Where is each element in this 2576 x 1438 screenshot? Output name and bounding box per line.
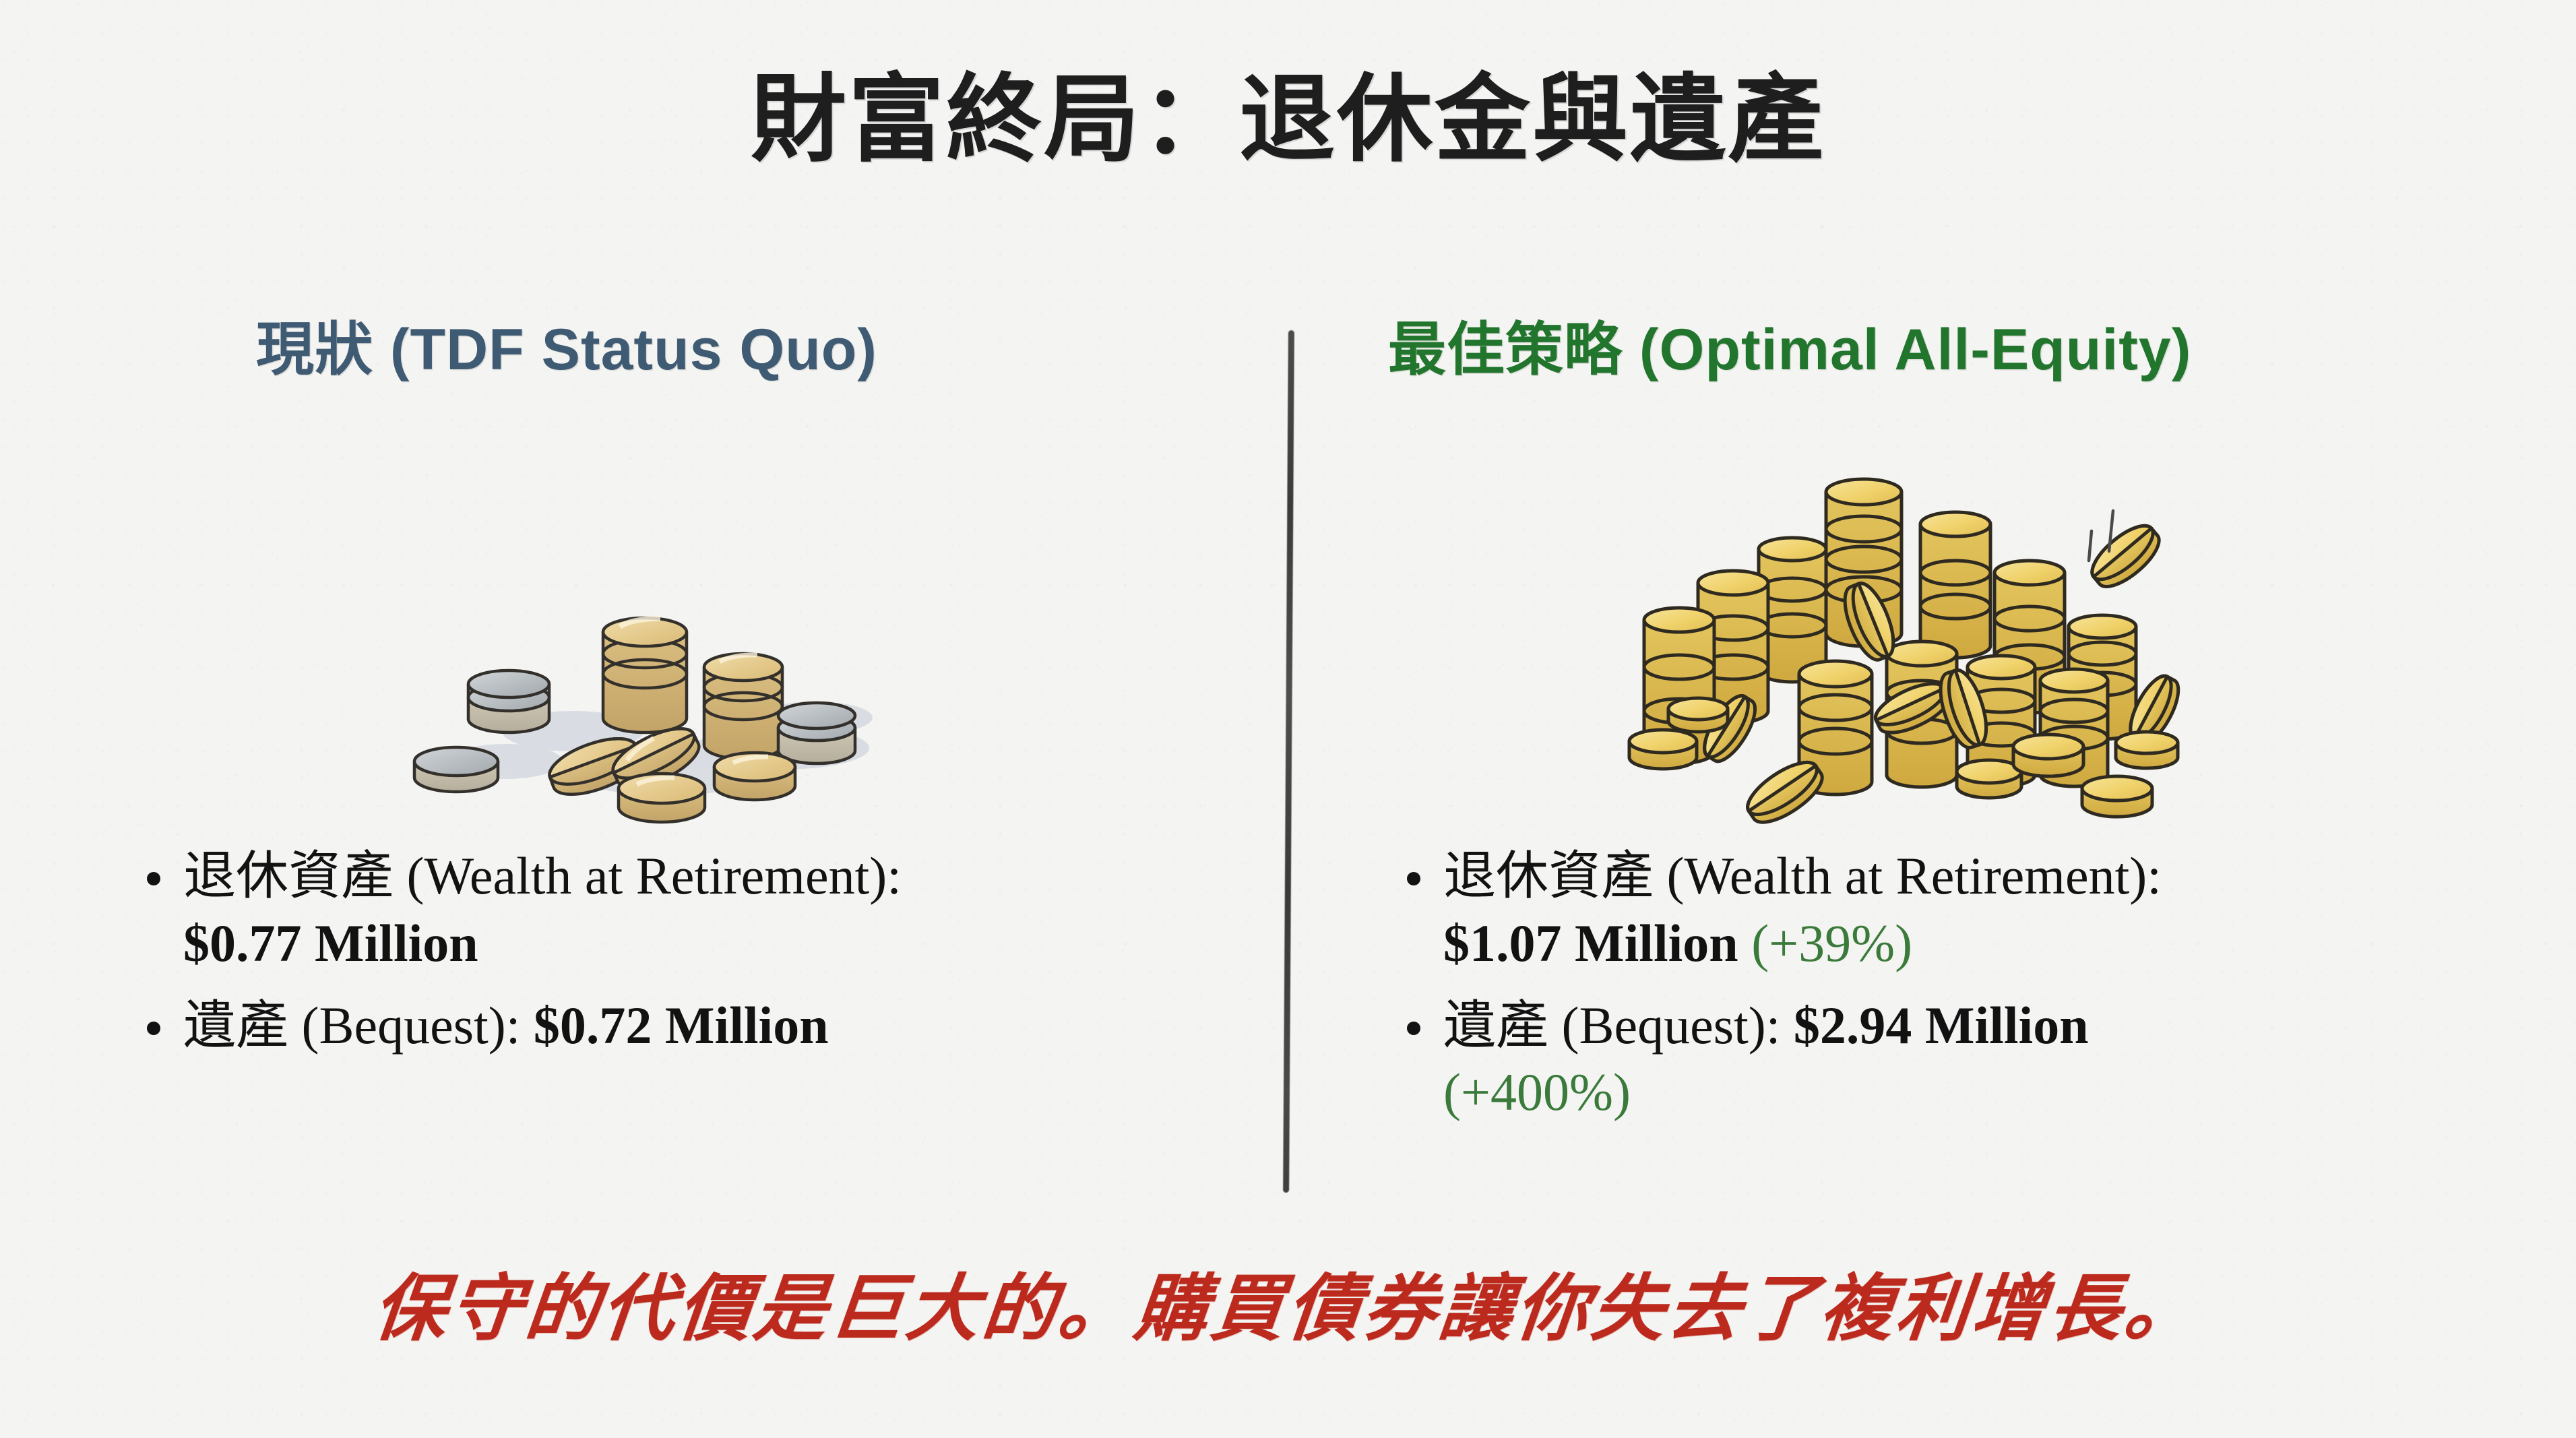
list-item: 遺產 (Bequest): $2.94 Million (+400%) — [1402, 992, 2493, 1127]
metric-value: $1.07 Million — [1443, 914, 1738, 972]
column-optimal: 最佳策略 (Optimal All-Equity) — [1368, 317, 2527, 383]
large-coin-pile-illustration — [1604, 451, 2251, 836]
metric-label: 遺產 (Bequest): — [1443, 996, 1780, 1055]
list-item: 退休資產 (Wealth at Retirement): $1.07 Milli… — [1402, 842, 2493, 977]
list-item: 退休資產 (Wealth at Retirement): $0.77 Milli… — [142, 842, 1193, 977]
column-heading-status-quo: 現狀 (TDF Status Quo) — [94, 317, 1240, 383]
metric-label: 遺產 (Bequest): — [183, 996, 520, 1055]
metrics-list-status-quo: 退休資產 (Wealth at Retirement): $0.77 Milli… — [142, 842, 1193, 1073]
small-coin-pile-illustration — [404, 559, 916, 829]
metric-label: 退休資產 (Wealth at Retirement): — [1443, 846, 2162, 905]
metric-value: $2.94 Million — [1794, 996, 2089, 1055]
metric-change: (+400%) — [1443, 1063, 1631, 1121]
metric-value: $0.72 Million — [534, 996, 829, 1055]
column-status-quo: 現狀 (TDF Status Quo) — [94, 317, 1240, 383]
slide-canvas: 財富終局：退休金與遺產 現狀 (TDF Status Quo) — [0, 0, 2576, 1438]
column-divider — [1283, 330, 1294, 1193]
page-title: 財富終局：退休金與遺產 — [0, 67, 2576, 173]
metric-label: 退休資產 (Wealth at Retirement): — [183, 846, 902, 905]
summary-caption: 保守的代價是巨大的。購買債券讓你失去了複利增長。 — [0, 1250, 2576, 1355]
metric-value: $0.77 Million — [183, 914, 478, 972]
column-heading-optimal: 最佳策略 (Optimal All-Equity) — [1368, 317, 2527, 383]
list-item: 遺產 (Bequest): $0.72 Million — [142, 992, 1193, 1059]
metrics-list-optimal: 退休資產 (Wealth at Retirement): $1.07 Milli… — [1402, 842, 2493, 1141]
metric-change: (+39%) — [1751, 914, 1912, 972]
